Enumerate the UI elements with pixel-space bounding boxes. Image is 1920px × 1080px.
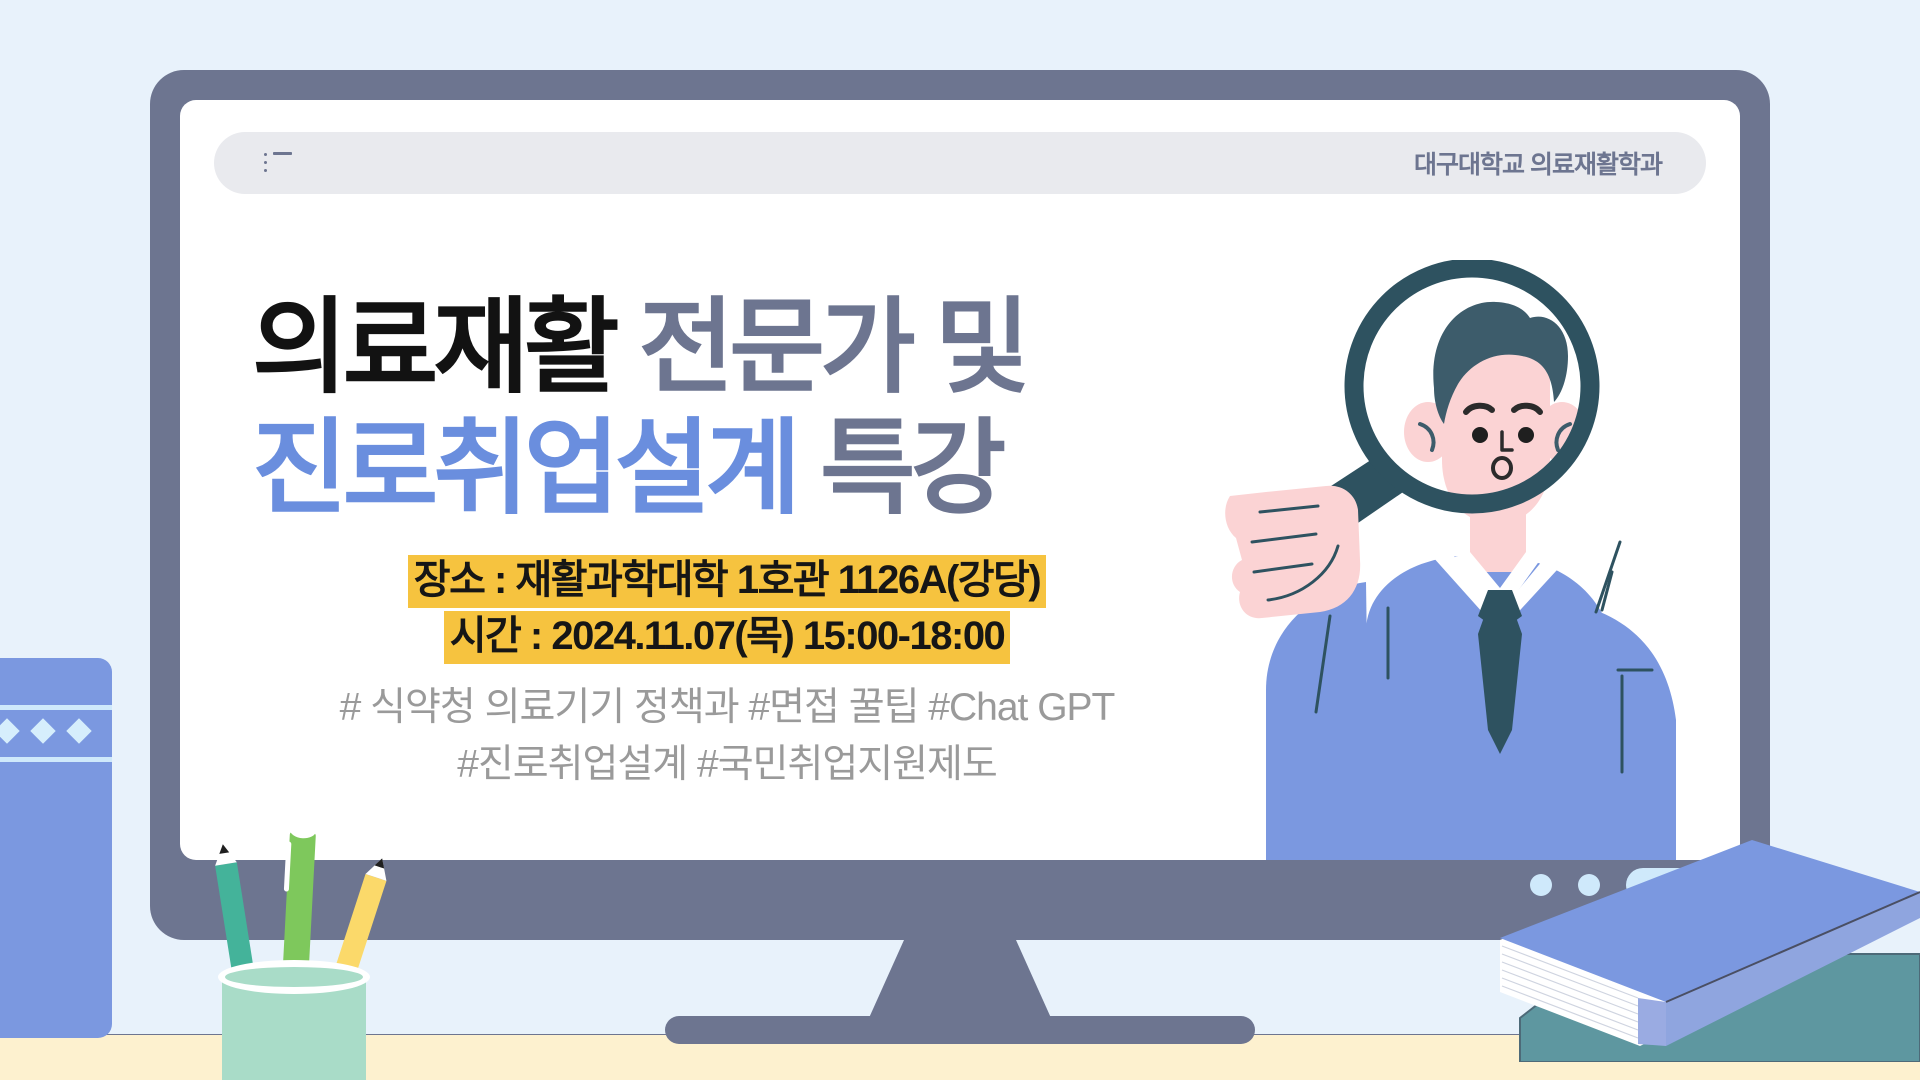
headline-emphasis-1: 의료재활 <box>252 290 615 406</box>
monitor-frame: 대구대학교 의료재활학과 의료재활 전문가 및 진로취업설계 특강 장소 : 재… <box>150 70 1770 940</box>
event-place-row: 장소 : 재활과학대학 1호관 1126A(강당) <box>252 555 1202 608</box>
screen-topbar: 대구대학교 의료재활학과 <box>214 132 1706 194</box>
pencil-cup-body <box>222 980 366 1080</box>
monitor-stand-base <box>665 1016 1255 1044</box>
monitor-screen: 대구대학교 의료재활학과 의료재활 전문가 및 진로취업설계 특강 장소 : 재… <box>180 100 1740 860</box>
pencil-cup-rim <box>218 960 370 994</box>
headline-block: 의료재활 전문가 및 진로취업설계 특강 <box>252 288 1202 529</box>
headline-rest-1: 전문가 및 <box>615 290 1026 406</box>
pencil-cup-group <box>222 860 382 1080</box>
left-blue-book <box>0 658 112 1038</box>
event-time-row: 시간 : 2024.11.07(목) 15:00-18:00 <box>252 611 1202 664</box>
headline-line-2: 진로취업설계 특강 <box>252 409 1202 530</box>
list-icon[interactable] <box>264 152 292 174</box>
hashtag-block: # 식약청 의료기기 정책과 #면접 꿀팁 #Chat GPT #진로취업설계 … <box>252 680 1202 793</box>
hashtag-line-1: # 식약청 의료기기 정책과 #면접 꿀팁 #Chat GPT <box>252 680 1202 737</box>
headline-line-1: 의료재활 전문가 및 <box>252 288 1202 409</box>
event-time: 시간 : 2024.11.07(목) 15:00-18:00 <box>444 611 1011 664</box>
right-book-stack <box>1490 832 1920 1062</box>
headline-emphasis-2: 진로취업설계 <box>252 411 796 527</box>
poster-scene: 대구대학교 의료재활학과 의료재활 전문가 및 진로취업설계 특강 장소 : 재… <box>0 0 1920 1080</box>
hashtag-line-2: #진로취업설계 #국민취업지원제도 <box>252 737 1202 794</box>
headline-rest-2: 특강 <box>796 411 1001 527</box>
event-place: 장소 : 재활과학대학 1호관 1126A(강당) <box>408 555 1046 608</box>
left-book-stripe-top <box>0 705 112 710</box>
department-label: 대구대학교 의료재활학과 <box>1414 145 1662 181</box>
man-with-magnifying-glass-illustration <box>1170 260 1730 860</box>
event-info-block: 장소 : 재활과학대학 1호관 1126A(강당) 시간 : 2024.11.0… <box>252 555 1202 664</box>
left-book-stripe-bottom <box>0 757 112 762</box>
